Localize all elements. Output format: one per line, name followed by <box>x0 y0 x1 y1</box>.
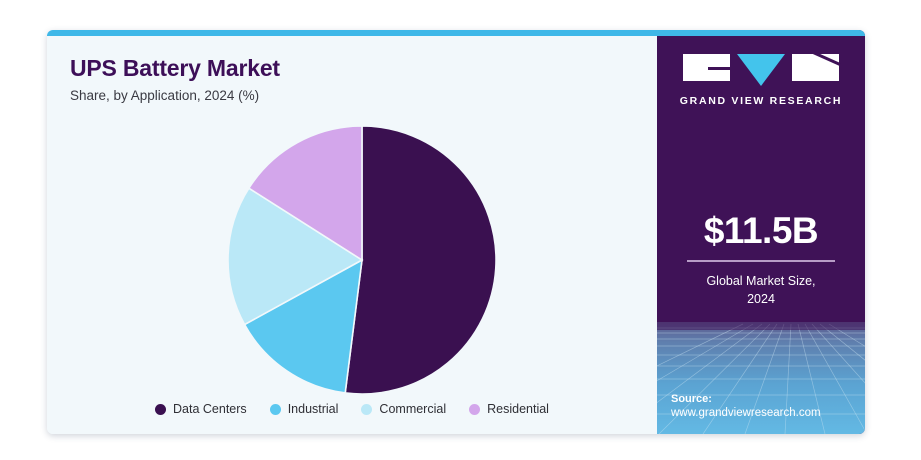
legend-label: Commercial <box>379 402 446 416</box>
legend-label: Industrial <box>288 402 339 416</box>
logo-marks <box>657 54 865 86</box>
legend-label: Residential <box>487 402 549 416</box>
legend-label: Data Centers <box>173 402 247 416</box>
legend-swatch-icon <box>155 404 166 415</box>
brand-pane: GRAND VIEW RESEARCH $11.5B Global Market… <box>657 30 865 434</box>
infographic-card: UPS Battery Market Share, by Application… <box>47 30 865 434</box>
chart-pane: UPS Battery Market Share, by Application… <box>47 30 657 434</box>
card-accent-bar <box>47 30 865 36</box>
screenshot-root: UPS Battery Market Share, by Application… <box>0 0 921 460</box>
legend-item[interactable]: Commercial <box>361 402 446 416</box>
stat-caption-line-1: Global Market Size, <box>679 272 843 290</box>
source-block: Source: www.grandviewresearch.com <box>671 392 821 422</box>
stat-caption-line-2: 2024 <box>679 290 843 308</box>
legend-item[interactable]: Industrial <box>270 402 339 416</box>
legend-swatch-icon <box>469 404 480 415</box>
legend-swatch-icon <box>270 404 281 415</box>
pie-slice[interactable] <box>345 126 496 394</box>
market-size-stat: $11.5B Global Market Size, 2024 <box>657 212 865 308</box>
brand-name: GRAND VIEW RESEARCH <box>657 95 865 107</box>
logo-r-icon <box>792 54 839 81</box>
logo-g-icon <box>683 54 730 81</box>
pie-slice-group <box>228 126 496 394</box>
stat-caption: Global Market Size, 2024 <box>679 272 843 308</box>
brand-logo: GRAND VIEW RESEARCH <box>657 54 865 107</box>
chart-legend: Data CentersIndustrialCommercialResident… <box>47 402 657 416</box>
legend-item[interactable]: Residential <box>469 402 549 416</box>
source-url[interactable]: www.grandviewresearch.com <box>671 406 821 422</box>
stat-value: $11.5B <box>679 212 843 249</box>
pie-chart-svg <box>226 124 498 396</box>
legend-swatch-icon <box>361 404 372 415</box>
source-label: Source: <box>671 392 821 407</box>
stat-divider <box>687 260 835 262</box>
legend-item[interactable]: Data Centers <box>155 402 247 416</box>
logo-v-triangle-icon <box>737 54 785 86</box>
pie-chart <box>47 30 657 434</box>
